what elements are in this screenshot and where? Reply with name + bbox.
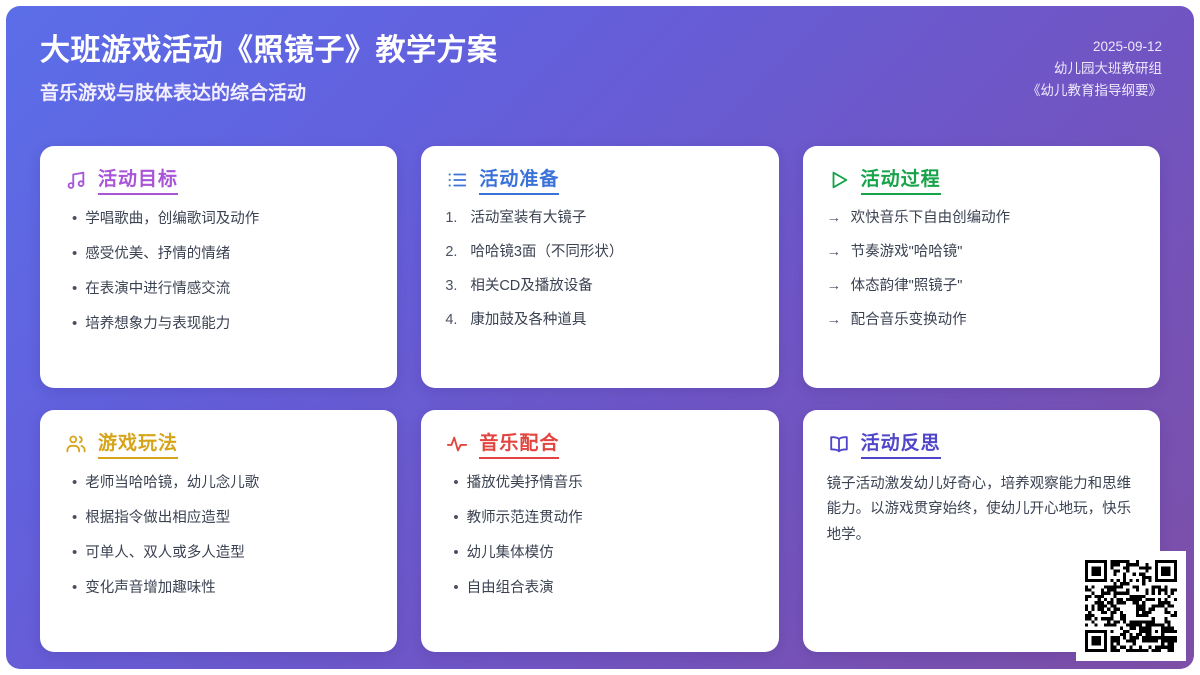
- list-item: →体态韵律"照镜子": [827, 276, 1138, 297]
- list-item: •播放优美抒情音乐: [453, 472, 756, 494]
- card-item-list: →欢快音乐下自由创编动作→节奏游戏"哈哈镜"→体态韵律"照镜子"→配合音乐变换动…: [827, 208, 1138, 331]
- card-title: 活动目标: [98, 169, 178, 195]
- card-item-list: •老师当哈哈镜，幼儿念儿歌•根据指令做出相应造型•可单人、双人或多人造型•变化声…: [64, 472, 375, 599]
- list-item: →欢快音乐下自由创编动作: [827, 208, 1138, 229]
- list-marker: •: [453, 472, 458, 494]
- list-marker: 4.: [445, 310, 462, 331]
- list-item: 1.活动室装有大镜子: [445, 208, 756, 229]
- list-item-text: 播放优美抒情音乐: [467, 473, 757, 494]
- card-header: 活动目标: [64, 168, 375, 192]
- card-title: 活动准备: [479, 169, 559, 195]
- list-marker: •: [72, 542, 77, 564]
- list-item: •幼儿集体模仿: [453, 542, 756, 564]
- card-title: 活动反思: [861, 433, 941, 459]
- list-item: →配合音乐变换动作: [827, 310, 1138, 331]
- list-marker: •: [453, 577, 458, 599]
- list-marker: →: [827, 242, 843, 263]
- page-title: 大班游戏活动《照镜子》教学方案: [40, 32, 498, 70]
- list-item: •老师当哈哈镜，幼儿念儿歌: [72, 472, 375, 494]
- list-item: 2.哈哈镜3面（不同形状）: [445, 242, 756, 263]
- list-marker: 2.: [445, 242, 462, 263]
- card-paragraph: 镜子活动激发幼儿好奇心，培养观察能力和思维能力。以游戏贯穿始终，使幼儿开心地玩，…: [827, 472, 1138, 548]
- list-item: •自由组合表演: [453, 577, 756, 599]
- pulse-icon: [445, 432, 469, 456]
- list-item-text: 可单人、双人或多人造型: [85, 543, 375, 564]
- qr-code: [1085, 560, 1177, 652]
- page-subtitle: 音乐游戏与肢体表达的综合活动: [40, 82, 498, 107]
- list-item-text: 在表演中进行情感交流: [85, 279, 375, 300]
- list-marker: •: [72, 577, 77, 599]
- list-item-text: 体态韵律"照镜子": [851, 276, 1138, 297]
- list-icon: [445, 168, 469, 192]
- list-marker: →: [827, 276, 843, 297]
- card-activity-goals: 活动目标•学唱歌曲，创编歌词及动作•感受优美、抒情的情绪•在表演中进行情感交流•…: [40, 146, 397, 388]
- list-item-text: 欢快音乐下自由创编动作: [851, 208, 1138, 229]
- poster: 大班游戏活动《照镜子》教学方案 音乐游戏与肢体表达的综合活动 2025-09-1…: [0, 0, 1200, 675]
- play-triangle-icon: [827, 168, 851, 192]
- list-item: •变化声音增加趣味性: [72, 577, 375, 599]
- list-item-text: 幼儿集体模仿: [467, 543, 757, 564]
- book-icon: [827, 432, 851, 456]
- list-item-text: 配合音乐变换动作: [851, 310, 1138, 331]
- card-title: 游戏玩法: [98, 433, 178, 459]
- card-header: 游戏玩法: [64, 432, 375, 456]
- card-title-wrap: 游戏玩法: [98, 432, 178, 456]
- list-item: 3.相关CD及播放设备: [445, 276, 756, 297]
- card-title: 音乐配合: [479, 433, 559, 459]
- card-title: 活动过程: [861, 169, 941, 195]
- header-reference: 《幼儿教育指导纲要》: [1027, 80, 1162, 102]
- list-item-text: 变化声音增加趣味性: [85, 578, 375, 599]
- card-title-wrap: 音乐配合: [479, 432, 559, 456]
- list-item: •学唱歌曲，创编歌词及动作: [72, 208, 375, 230]
- card-activity-process: 活动过程→欢快音乐下自由创编动作→节奏游戏"哈哈镜"→体态韵律"照镜子"→配合音…: [803, 146, 1160, 388]
- card-header: 活动准备: [445, 168, 756, 192]
- card-title-wrap: 活动准备: [479, 168, 559, 192]
- list-item: •可单人、双人或多人造型: [72, 542, 375, 564]
- list-marker: 1.: [445, 208, 462, 229]
- header-date: 2025-09-12: [1027, 36, 1162, 58]
- card-title-wrap: 活动过程: [861, 168, 941, 192]
- card-grid: 活动目标•学唱歌曲，创编歌词及动作•感受优美、抒情的情绪•在表演中进行情感交流•…: [40, 146, 1160, 652]
- list-marker: 3.: [445, 276, 462, 297]
- card-item-list: •播放优美抒情音乐•教师示范连贯动作•幼儿集体模仿•自由组合表演: [445, 472, 756, 599]
- list-item-text: 相关CD及播放设备: [470, 276, 756, 297]
- list-item: 4.康加鼓及各种道具: [445, 310, 756, 331]
- card-title-wrap: 活动目标: [98, 168, 178, 192]
- list-item-text: 根据指令做出相应造型: [85, 508, 375, 529]
- poster-header: 大班游戏活动《照镜子》教学方案 音乐游戏与肢体表达的综合活动 2025-09-1…: [6, 6, 1194, 134]
- list-item-text: 哈哈镜3面（不同形状）: [470, 242, 756, 263]
- list-item: •培养想象力与表现能力: [72, 313, 375, 335]
- list-marker: •: [72, 278, 77, 300]
- list-item: •教师示范连贯动作: [453, 507, 756, 529]
- list-marker: •: [72, 313, 77, 335]
- card-item-list: 1.活动室装有大镜子2.哈哈镜3面（不同形状）3.相关CD及播放设备4.康加鼓及…: [445, 208, 756, 331]
- header-left: 大班游戏活动《照镜子》教学方案 音乐游戏与肢体表达的综合活动: [40, 32, 498, 106]
- header-org: 幼儿园大班教研组: [1027, 58, 1162, 80]
- list-item: •在表演中进行情感交流: [72, 278, 375, 300]
- list-marker: •: [72, 243, 77, 265]
- list-marker: •: [453, 542, 458, 564]
- list-item-text: 老师当哈哈镜，幼儿念儿歌: [85, 473, 375, 494]
- list-marker: •: [453, 507, 458, 529]
- list-item-text: 教师示范连贯动作: [467, 508, 757, 529]
- header-meta: 2025-09-12 幼儿园大班教研组 《幼儿教育指导纲要》: [1027, 32, 1162, 102]
- list-marker: •: [72, 208, 77, 230]
- card-title-wrap: 活动反思: [861, 432, 941, 456]
- list-item-text: 感受优美、抒情的情绪: [85, 244, 375, 265]
- qr-code-container[interactable]: [1076, 551, 1186, 661]
- list-item-text: 活动室装有大镜子: [470, 208, 756, 229]
- list-marker: •: [72, 472, 77, 494]
- list-marker: →: [827, 310, 843, 331]
- list-item-text: 培养想象力与表现能力: [85, 314, 375, 335]
- list-item-text: 节奏游戏"哈哈镜": [851, 242, 1138, 263]
- card-header: 音乐配合: [445, 432, 756, 456]
- list-item: •根据指令做出相应造型: [72, 507, 375, 529]
- list-item-text: 康加鼓及各种道具: [470, 310, 756, 331]
- card-header: 活动反思: [827, 432, 1138, 456]
- list-item: •感受优美、抒情的情绪: [72, 243, 375, 265]
- card-item-list: •学唱歌曲，创编歌词及动作•感受优美、抒情的情绪•在表演中进行情感交流•培养想象…: [64, 208, 375, 335]
- list-marker: →: [827, 208, 843, 229]
- music-note-icon: [64, 168, 88, 192]
- list-item-text: 自由组合表演: [467, 578, 757, 599]
- list-item: →节奏游戏"哈哈镜": [827, 242, 1138, 263]
- card-game-rules: 游戏玩法•老师当哈哈镜，幼儿念儿歌•根据指令做出相应造型•可单人、双人或多人造型…: [40, 410, 397, 652]
- poster-canvas: 大班游戏活动《照镜子》教学方案 音乐游戏与肢体表达的综合活动 2025-09-1…: [6, 6, 1194, 669]
- list-item-text: 学唱歌曲，创编歌词及动作: [85, 209, 375, 230]
- card-music-coordination: 音乐配合•播放优美抒情音乐•教师示范连贯动作•幼儿集体模仿•自由组合表演: [421, 410, 778, 652]
- card-header: 活动过程: [827, 168, 1138, 192]
- list-marker: •: [72, 507, 77, 529]
- users-icon: [64, 432, 88, 456]
- card-activity-preparation: 活动准备1.活动室装有大镜子2.哈哈镜3面（不同形状）3.相关CD及播放设备4.…: [421, 146, 778, 388]
